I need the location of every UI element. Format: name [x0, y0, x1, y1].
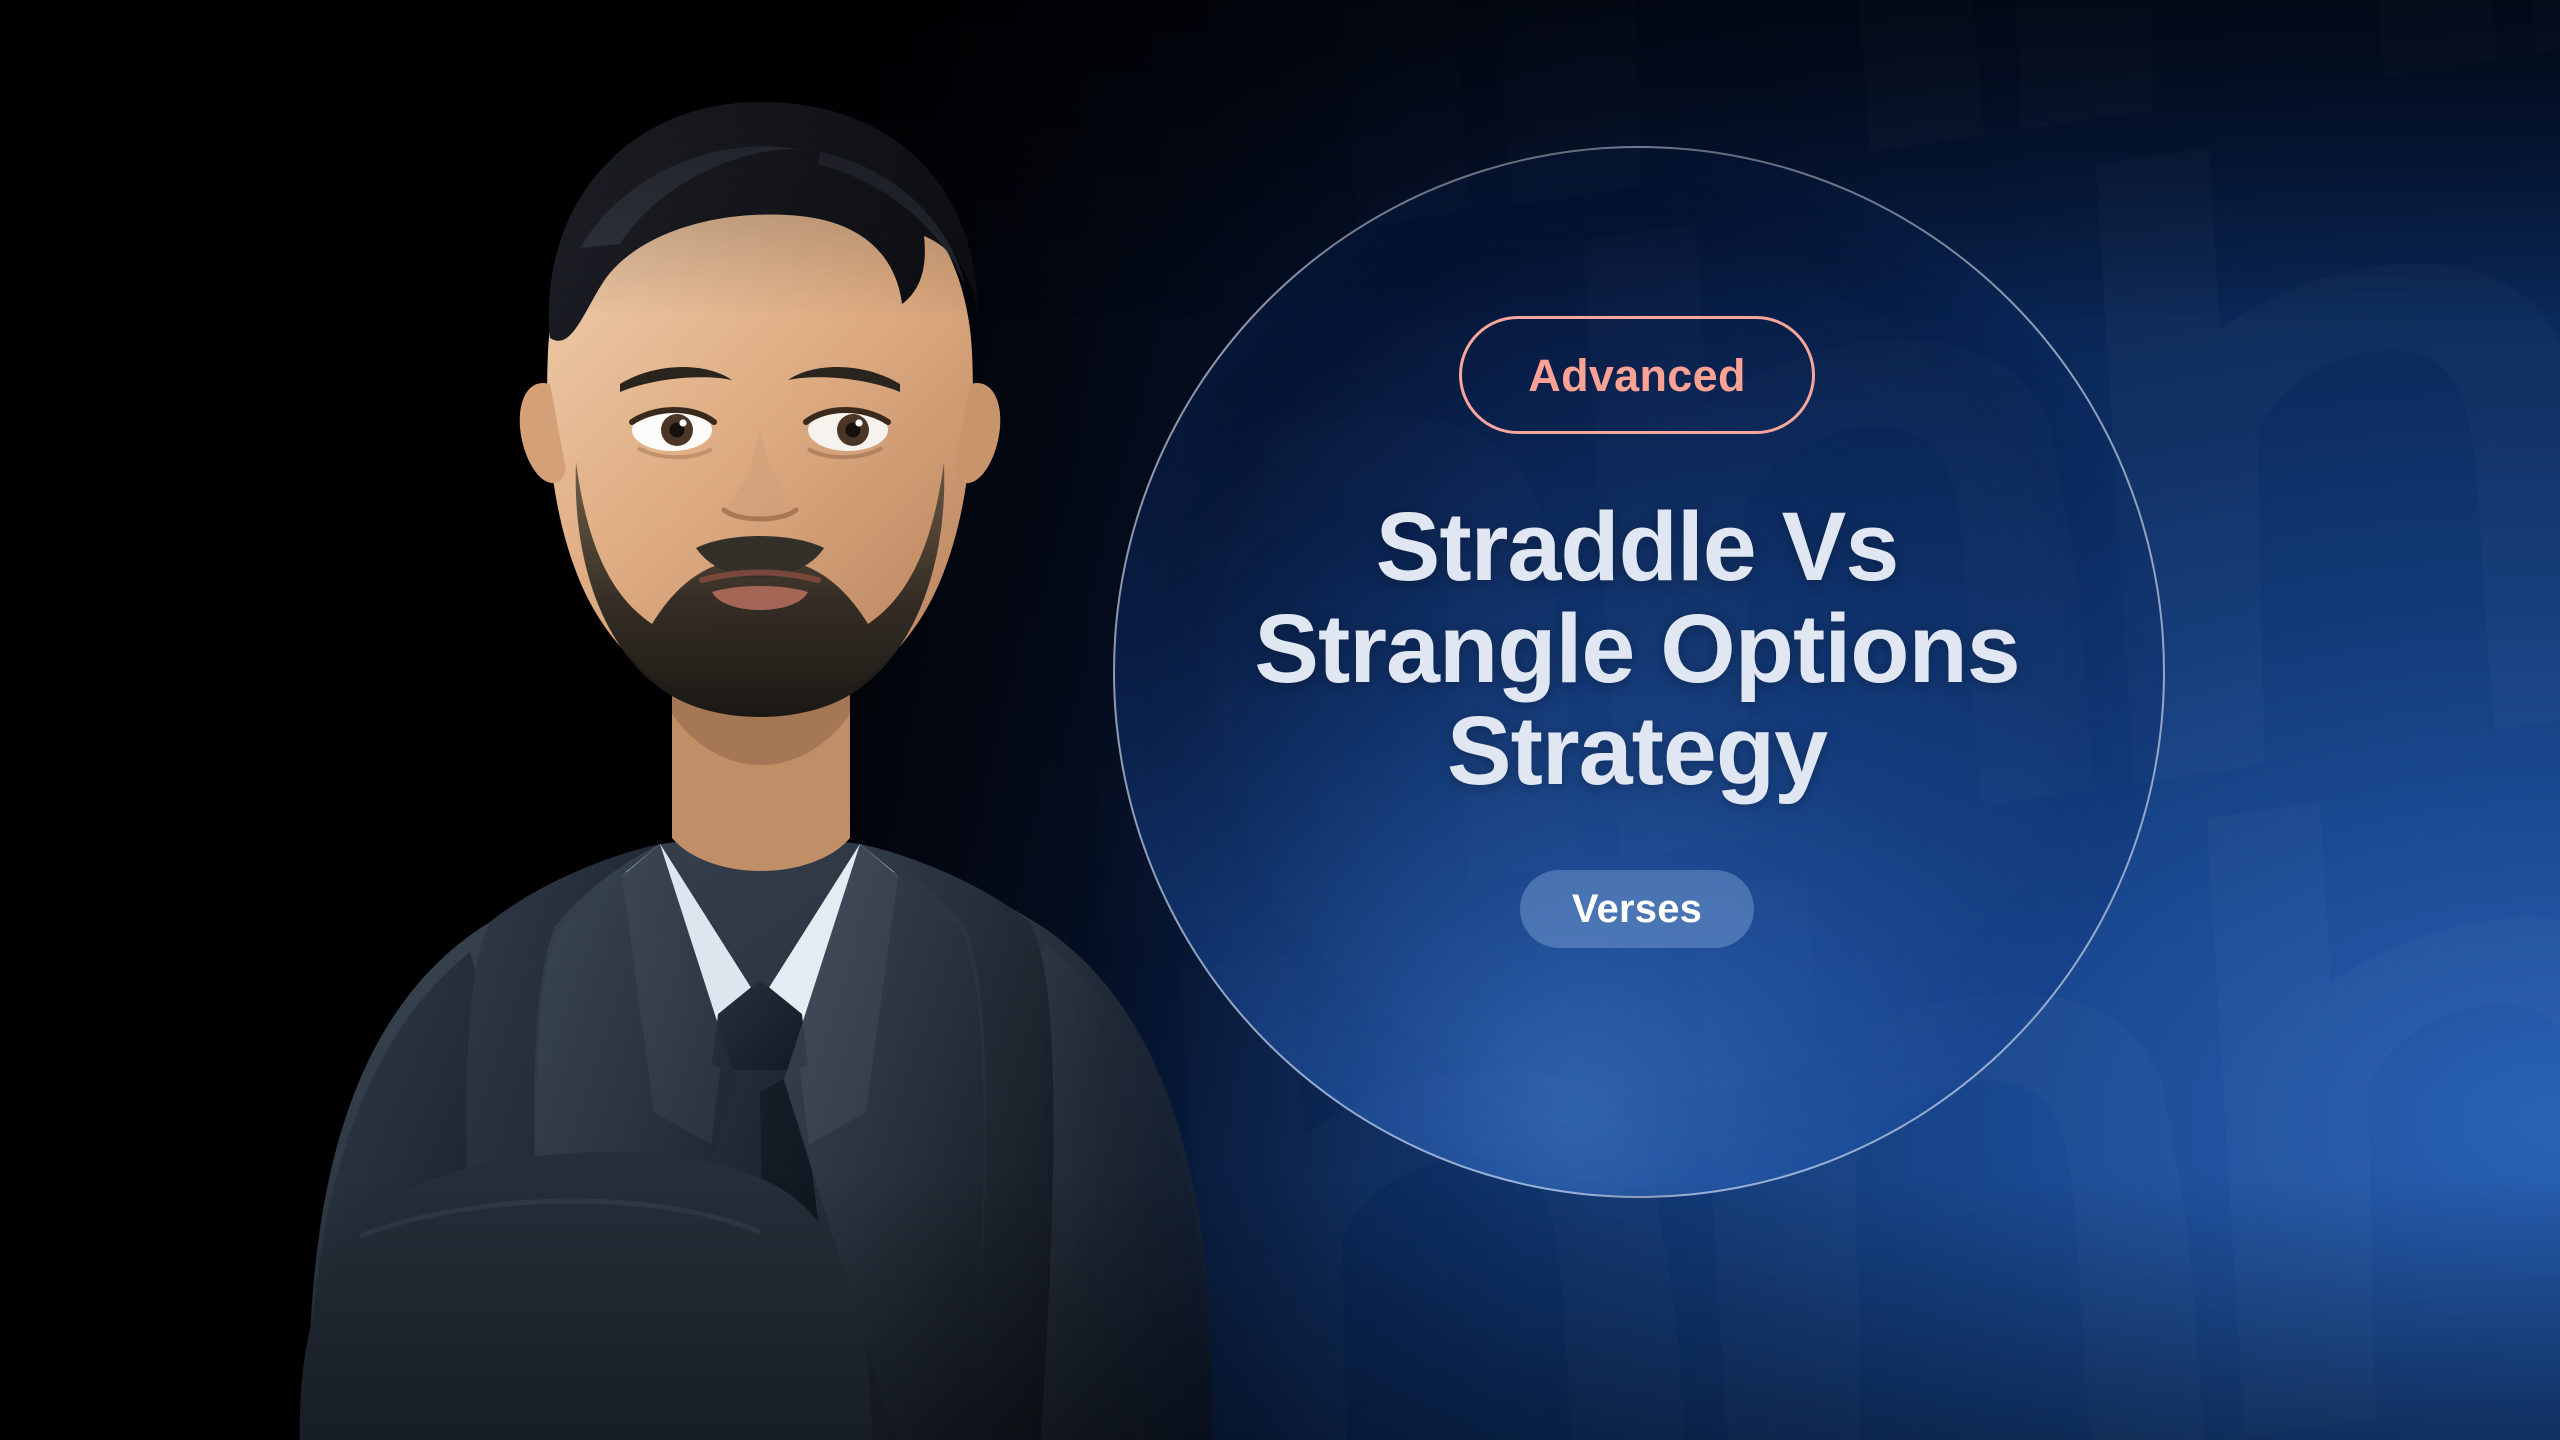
title-line-1: Straddle Vs [1254, 496, 2019, 598]
level-badge-advanced[interactable]: Advanced [1459, 316, 1814, 434]
hero-content: Advanced Straddle Vs Strangle Options St… [1113, 146, 2161, 1194]
title-line-2: Strangle Options [1254, 598, 2019, 700]
comparison-badge-verses[interactable]: Verses [1520, 870, 1754, 948]
page-title: Straddle Vs Strangle Options Strategy [1254, 496, 2019, 802]
thumbnail-canvas: Advanced Straddle Vs Strangle Options St… [0, 0, 2560, 1440]
title-line-3: Strategy [1254, 700, 2019, 802]
